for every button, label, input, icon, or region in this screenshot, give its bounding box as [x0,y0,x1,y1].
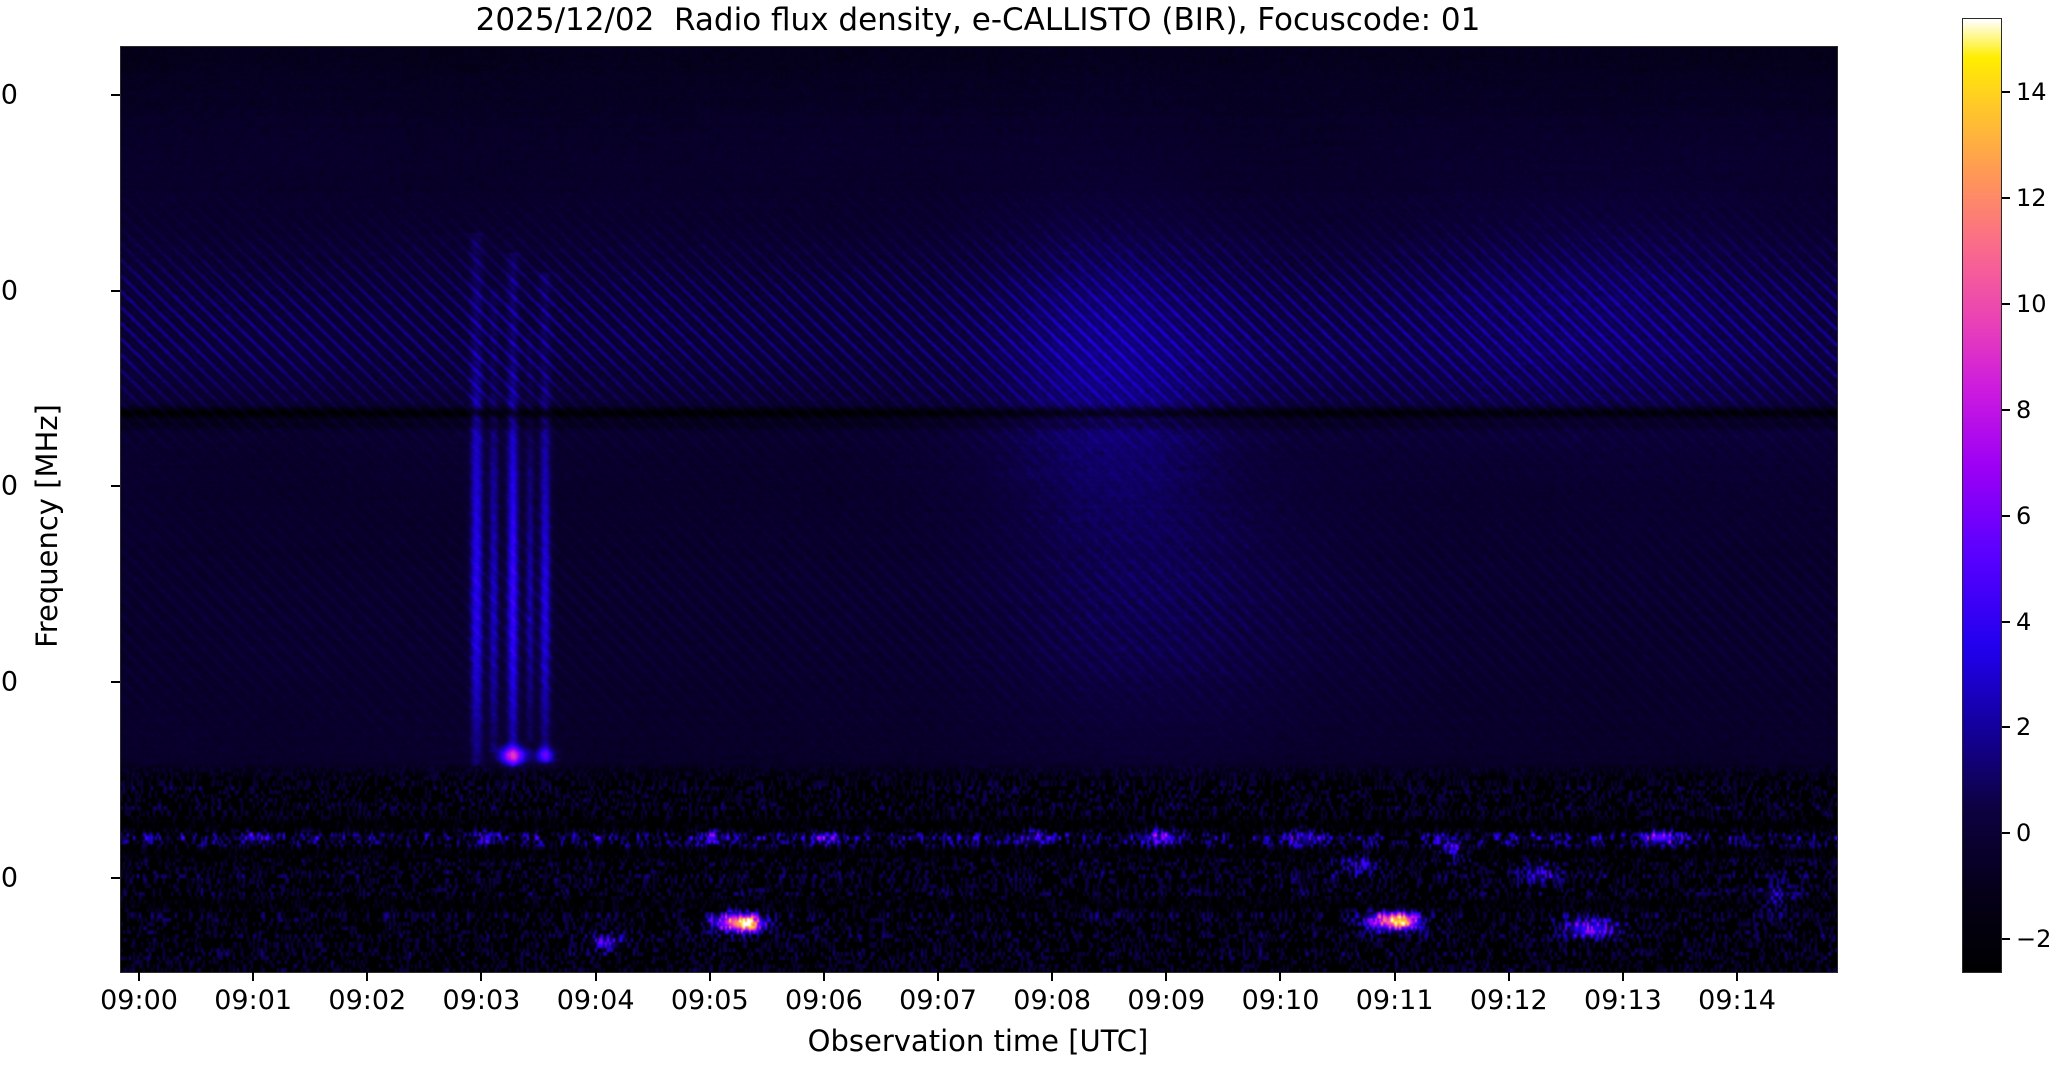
x-tick-mark [1508,972,1510,981]
y-tick-label: 100 [0,79,18,110]
colorbar-tick-label: 6 [2016,502,2031,530]
y-tick-mark [111,485,120,487]
x-tick-mark [1279,972,1281,981]
x-tick-mark [138,972,140,981]
colorbar-tick-mark [2002,832,2010,834]
x-tick-mark [937,972,939,981]
colorbar-tick-mark [2002,726,2010,728]
colorbar-tick-mark [2002,621,2010,623]
colorbar-tick-label: −2 [2016,925,2051,953]
y-tick-mark [111,877,120,879]
colorbar-gradient [1963,19,2001,972]
colorbar-tick-label: 10 [2016,290,2047,318]
spectrogram-image [121,47,1837,972]
colorbar-tick-label: 2 [2016,713,2031,741]
figure-title: 2025/12/02 Radio flux density, e-CALLIST… [120,2,1836,38]
colorbar-tick-label: 4 [2016,608,2031,636]
x-tick-mark [1051,972,1053,981]
colorbar-tick-mark [2002,515,2010,517]
colorbar-tick-mark [2002,303,2010,305]
x-tick-mark [1622,972,1624,981]
y-axis-label: Frequency [MHz] [30,226,64,826]
x-tick-label: 09:14 [1657,985,1817,1016]
x-tick-mark [595,972,597,981]
y-tick-label: 80 [0,275,18,306]
x-tick-mark [1165,972,1167,981]
x-tick-mark [823,972,825,981]
colorbar-tick-label: 0 [2016,819,2031,847]
spectrogram-axes[interactable] [120,46,1838,973]
x-tick-mark [1736,972,1738,981]
y-tick-mark [111,681,120,683]
colorbar-tick-label: 8 [2016,396,2031,424]
x-tick-mark [252,972,254,981]
colorbar-tick-mark [2002,197,2010,199]
figure-canvas: 2025/12/02 Radio flux density, e-CALLIST… [0,0,2066,1067]
x-axis-label: Observation time [UTC] [120,1024,1836,1058]
x-tick-mark [709,972,711,981]
colorbar-tick-mark [2002,91,2010,93]
colorbar-tick-label: 12 [2016,184,2047,212]
y-tick-label: 60 [0,471,18,502]
colorbar-tick-mark [2002,409,2010,411]
x-tick-mark [480,972,482,981]
colorbar-tick-mark [2002,938,2010,940]
x-tick-mark [1394,972,1396,981]
y-tick-mark [111,290,120,292]
x-tick-mark [366,972,368,981]
y-tick-label: 40 [0,667,18,698]
y-tick-label: 20 [0,863,18,894]
y-tick-mark [111,94,120,96]
colorbar[interactable] [1962,18,2002,973]
colorbar-tick-label: 14 [2016,78,2047,106]
